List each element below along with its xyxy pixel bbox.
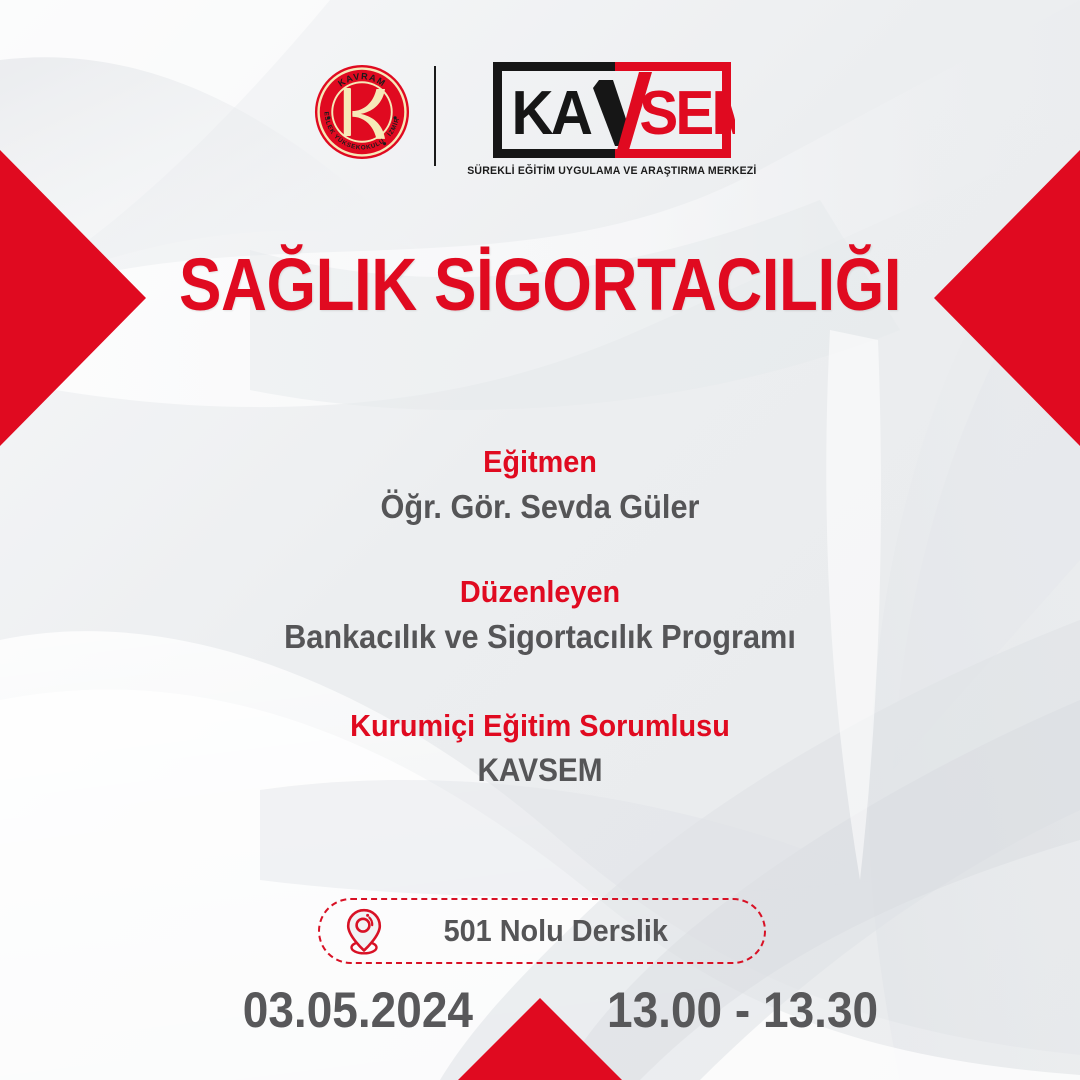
svg-text:SEM: SEM — [639, 78, 735, 147]
location-text: 501 Nolu Derslik — [399, 913, 734, 949]
event-date: 03.05.2024 — [197, 985, 473, 1035]
page-title: SAĞLIK SİGORTACILIĞI — [76, 248, 1005, 322]
logo-divider — [434, 66, 436, 166]
detail-value: KAVSEM — [38, 751, 1042, 790]
detail-block-duzenleyen: Düzenleyen Bankacılık ve Sigortacılık Pr… — [0, 574, 1080, 657]
map-pin-icon — [342, 907, 386, 955]
detail-value: Bankacılık ve Sigortacılık Programı — [38, 617, 1042, 657]
location-badge: 501 Nolu Derslik — [318, 898, 766, 964]
kavram-logo: KAVRAM MESLEK YÜKSEKOKULU İZMİR — [314, 64, 410, 160]
detail-label: Düzenleyen — [38, 574, 1042, 611]
detail-block-egitmen: Eğitmen Öğr. Gör. Sevda Güler — [0, 444, 1080, 527]
kavsem-logo-group: KA SEM SÜREKLİ EĞİTİM UYGULAMA VE ARAŞTI… — [458, 58, 766, 177]
detail-label: Eğitmen — [38, 444, 1042, 481]
kavsem-logo: KA SEM — [489, 58, 735, 162]
bottom-arrow-decoration — [458, 998, 622, 1080]
event-poster: KAVRAM MESLEK YÜKSEKOKULU İZMİR — [0, 0, 1080, 1080]
logo-header: KAVRAM MESLEK YÜKSEKOKULU İZMİR — [0, 58, 1080, 188]
kavsem-tagline: SÜREKLİ EĞİTİM UYGULAMA VE ARAŞTIRMA MER… — [467, 165, 756, 177]
detail-label: Kurumiçi Eğitim Sorumlusu — [38, 708, 1042, 745]
svg-text:KA: KA — [512, 78, 592, 147]
event-time: 13.00 - 13.30 — [607, 985, 883, 1035]
detail-block-sorumlu: Kurumiçi Eğitim Sorumlusu KAVSEM — [0, 708, 1080, 790]
detail-value: Öğr. Gör. Sevda Güler — [38, 487, 1042, 527]
